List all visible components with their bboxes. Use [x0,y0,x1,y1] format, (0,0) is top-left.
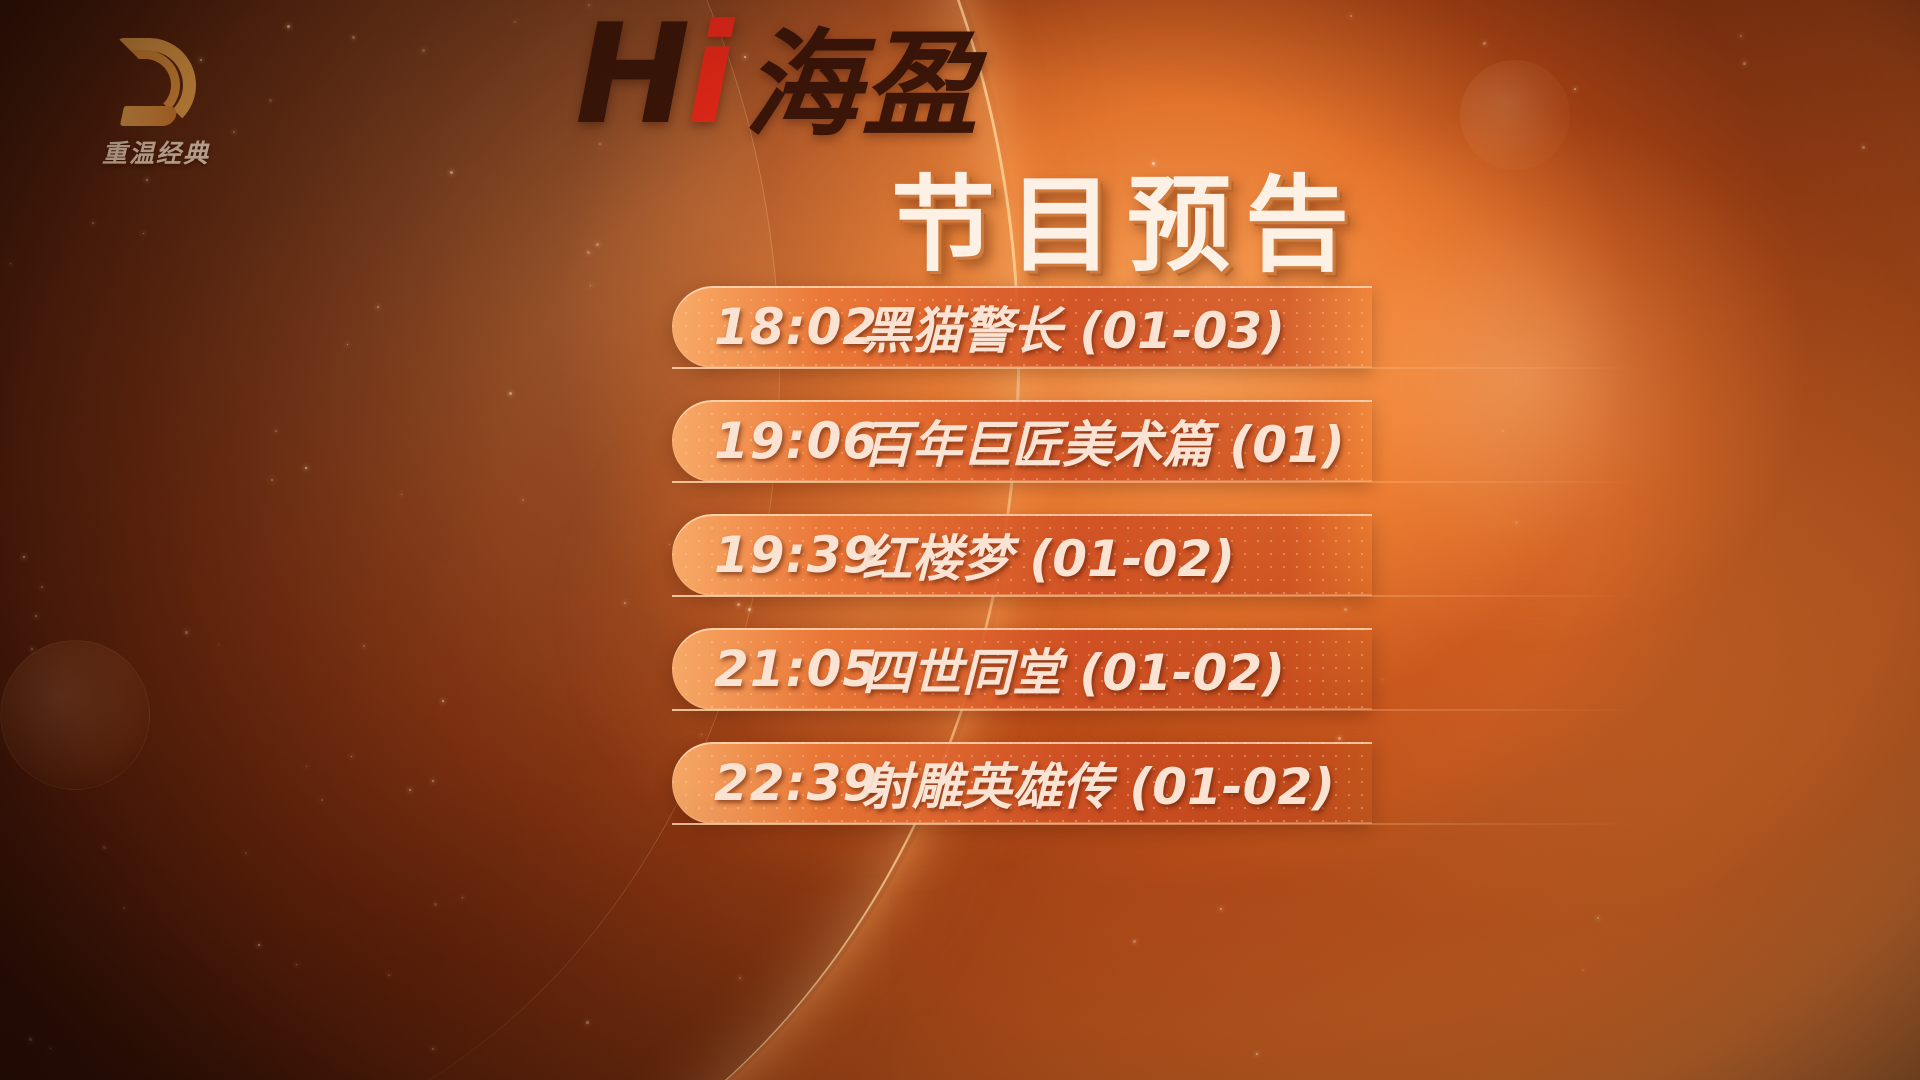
brand-hi-text: Hi [575,6,730,144]
schedule-time: 19:06 [672,412,862,470]
schedule-program-title: 黑猫警长 (01-03) [862,291,1372,363]
bokeh-circle-large [0,640,150,790]
schedule-row: 19:06 百年巨匠美术篇 (01) [672,400,1372,482]
logo-arc-tail [120,106,178,126]
schedule-row: 22:39 射雕英雄传 (01-02) [672,742,1372,824]
schedule-row: 18:02 黑猫警长 (01-03) [672,286,1372,368]
brand-hi-h: H [575,0,687,155]
bokeh-circle-small [1460,60,1570,170]
channel-emblem-icon [100,36,212,132]
brand-heading: Hi 海盈 节目预告 [575,6,1405,256]
schedule-row: 19:39 红楼梦 (01-02) [672,514,1372,596]
schedule-row: 21:05 四世同堂 (01-02) [672,628,1372,710]
schedule-time: 21:05 [672,640,862,698]
schedule-program-title: 射雕英雄传 (01-02) [862,747,1372,819]
brand-hi-i: i [687,0,730,155]
brand-name-cn: 海盈 [744,28,980,144]
schedule-time: 19:39 [672,526,862,584]
schedule-program-title: 四世同堂 (01-02) [862,633,1372,705]
schedule-program-title: 百年巨匠美术篇 (01) [862,405,1372,477]
brand-title-line: Hi 海盈 [575,6,1405,144]
schedule-program-title: 红楼梦 (01-02) [862,519,1372,591]
brand-subtitle: 节目预告 [891,140,1363,291]
schedule-list: 18:02 黑猫警长 (01-03) 19:06 百年巨匠美术篇 (01) 19… [672,286,1372,856]
schedule-time: 18:02 [672,298,862,356]
broadcast-schedule-screen: 重温经典 Hi 海盈 节目预告 18:02 黑猫警长 (01-03) 19:06… [0,0,1920,1080]
channel-logo: 重温经典 [72,36,240,170]
schedule-time: 22:39 [672,754,862,812]
logo-dot [116,78,144,106]
channel-slogan: 重温经典 [102,134,210,170]
